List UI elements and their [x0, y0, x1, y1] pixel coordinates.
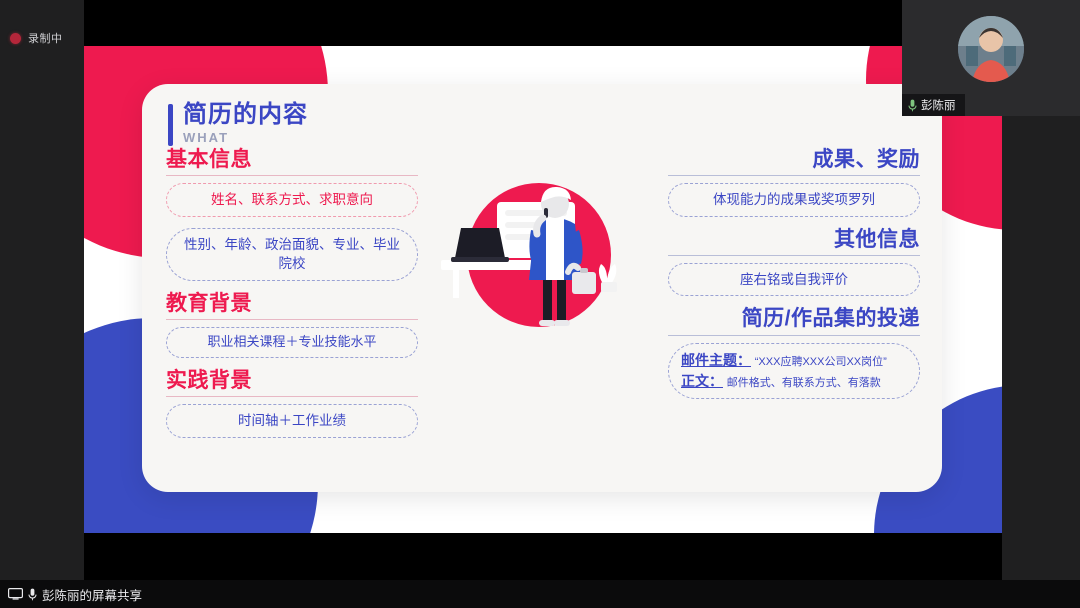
participant-name-badge: 彭陈丽 — [902, 94, 965, 116]
email-body-row: 正文： 邮件格式、有联系方式、有落款 — [681, 371, 907, 392]
record-dot-icon — [10, 33, 21, 44]
info-pill: 座右铭或自我评价 — [668, 263, 920, 297]
presentation-slide: 简历的内容 WHAT 基本信息 姓名、联系方式、求职意向 性别、年龄、政治面貌、… — [84, 46, 1002, 533]
email-subject-value: “XXX应聘XXX公司XX岗位” — [755, 356, 887, 368]
section-rule — [166, 175, 418, 176]
shared-screen-stage[interactable]: 简历的内容 WHAT 基本信息 姓名、联系方式、求职意向 性别、年龄、政治面貌、… — [84, 0, 1002, 580]
section-rule — [668, 255, 920, 256]
section-heading: 其他信息 — [668, 228, 920, 252]
info-pill: 体现能力的成果或奖项罗列 — [668, 183, 920, 217]
illustration-svg — [427, 160, 637, 350]
page-title: 简历的内容 — [183, 102, 308, 128]
info-pill: 姓名、联系方式、求职意向 — [166, 183, 418, 217]
microphone-icon — [908, 99, 917, 112]
section-heading: 基本信息 — [166, 148, 418, 172]
slide-title-block: 简历的内容 WHAT — [168, 102, 308, 146]
section-heading: 简历/作品集的投递 — [668, 307, 920, 331]
section-education: 教育背景 职业相关课程＋专业技能水平 — [166, 292, 418, 358]
section-heading: 教育背景 — [166, 292, 418, 316]
businessman-on-phone-illustration — [427, 160, 637, 350]
section-heading: 成果、奖励 — [668, 148, 920, 172]
email-body-label: 正文： — [681, 373, 723, 389]
section-heading: 实践背景 — [166, 369, 418, 393]
avatar — [958, 16, 1024, 82]
left-column: 基本信息 姓名、联系方式、求职意向 性别、年龄、政治面貌、专业、毕业院校 教育背… — [166, 148, 418, 449]
info-pill: 时间轴＋工作业绩 — [166, 404, 418, 438]
info-pill: 性别、年龄、政治面貌、专业、毕业院校 — [166, 228, 418, 281]
section-basic-info: 基本信息 姓名、联系方式、求职意向 性别、年龄、政治面貌、专业、毕业院校 — [166, 148, 418, 281]
section-rule — [166, 319, 418, 320]
recording-label: 录制中 — [28, 30, 63, 46]
avatar-image — [958, 16, 1024, 82]
participant-thumbnail[interactable]: 彭陈丽 — [902, 0, 1080, 116]
section-achievements: 成果、奖励 体现能力的成果或奖项罗列 — [668, 148, 920, 217]
section-other-info: 其他信息 座右铭或自我评价 — [668, 228, 920, 297]
email-body-value: 邮件格式、有联系方式、有落款 — [727, 377, 881, 389]
info-pill: 职业相关课程＋专业技能水平 — [166, 327, 418, 358]
section-rule — [166, 396, 418, 397]
right-column: 成果、奖励 体现能力的成果或奖项罗列 其他信息 座右铭或自我评价 简历/作品集的… — [668, 148, 920, 410]
meeting-screen-share-view: 录制中 简历的内容 WHAT 基本信息 — [0, 0, 1080, 608]
section-rule — [668, 335, 920, 336]
slide-content-card: 简历的内容 WHAT 基本信息 姓名、联系方式、求职意向 性别、年龄、政治面貌、… — [142, 84, 942, 492]
title-accent-bar — [168, 104, 173, 146]
screen-share-icon — [8, 588, 23, 600]
section-rule — [668, 175, 920, 176]
page-subtitle: WHAT — [183, 130, 308, 145]
email-template-pill: 邮件主题： “XXX应聘XXX公司XX岗位” 正文： 邮件格式、有联系方式、有落… — [668, 343, 920, 400]
participant-name: 彭陈丽 — [921, 97, 956, 113]
screen-share-status-bar: 彭陈丽的屏幕共享 — [0, 580, 1080, 608]
section-practice: 实践背景 时间轴＋工作业绩 — [166, 369, 418, 438]
section-submission: 简历/作品集的投递 邮件主题： “XXX应聘XXX公司XX岗位” 正文： 邮件格… — [668, 307, 920, 399]
microphone-icon — [28, 588, 37, 601]
email-subject-row: 邮件主题： “XXX应聘XXX公司XX岗位” — [681, 350, 907, 371]
share-status-text: 彭陈丽的屏幕共享 — [42, 585, 142, 604]
recording-indicator: 录制中 — [10, 30, 63, 46]
email-subject-label: 邮件主题： — [681, 352, 751, 368]
